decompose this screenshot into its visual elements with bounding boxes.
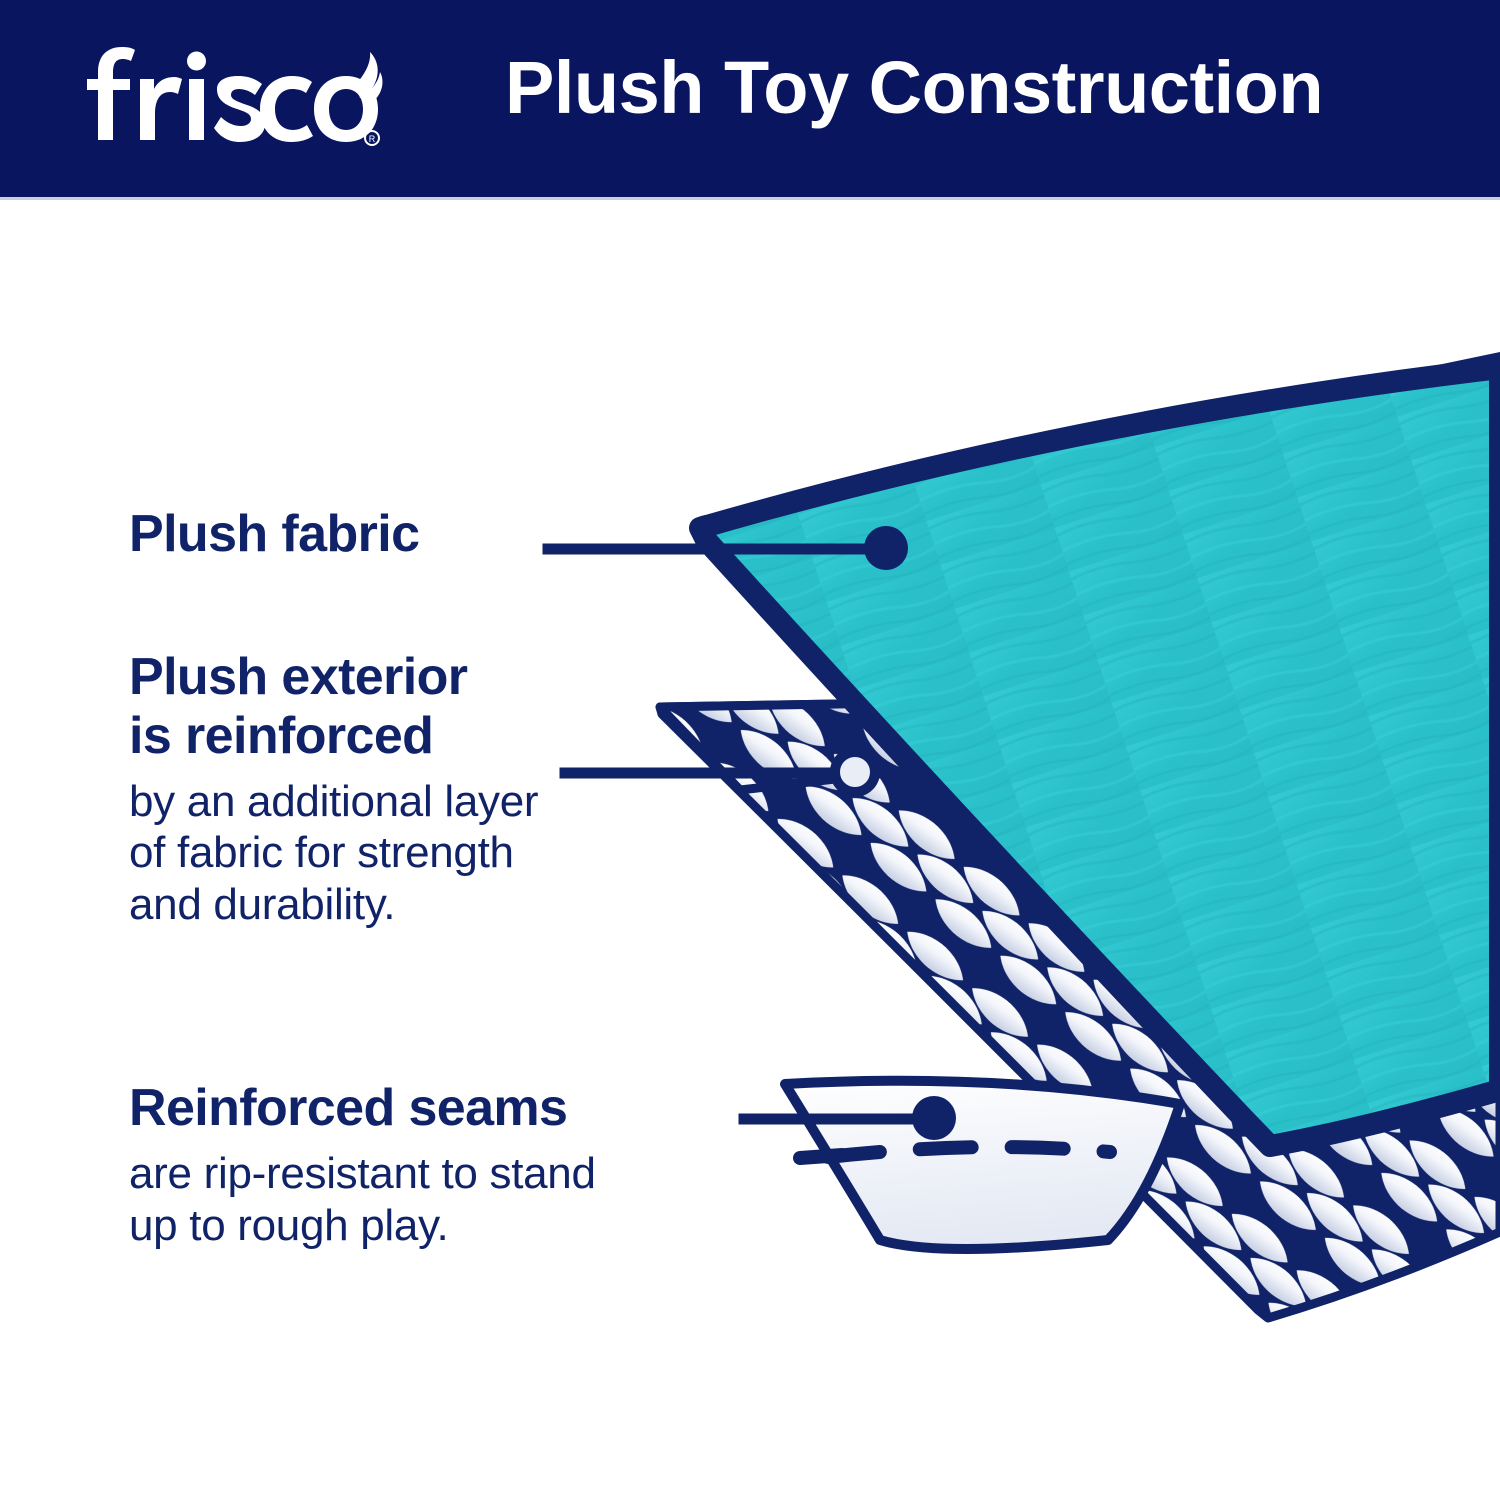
seam-flap [785,1081,1180,1249]
callout-plush-exterior: Plush exterior is reinforced by an addit… [129,648,538,931]
callout-plush-fabric: Plush fabric [129,505,419,564]
callout-body: by an additional layer of fabric for str… [129,776,538,932]
callout-heading: Plush exterior is reinforced [129,648,538,766]
callout-body: are rip-resistant to stand up to rough p… [129,1148,596,1252]
callout-heading: Reinforced seams [129,1079,596,1138]
callout-reinforced-seams: Reinforced seams are rip-resistant to st… [129,1079,596,1252]
marker-filled-dot [864,526,908,570]
marker-hollow-dot [835,752,875,792]
marker-filled-dot [912,1096,956,1140]
infographic-page: R Plush Toy Construction [0,0,1500,1500]
callout-heading: Plush fabric [129,505,419,564]
